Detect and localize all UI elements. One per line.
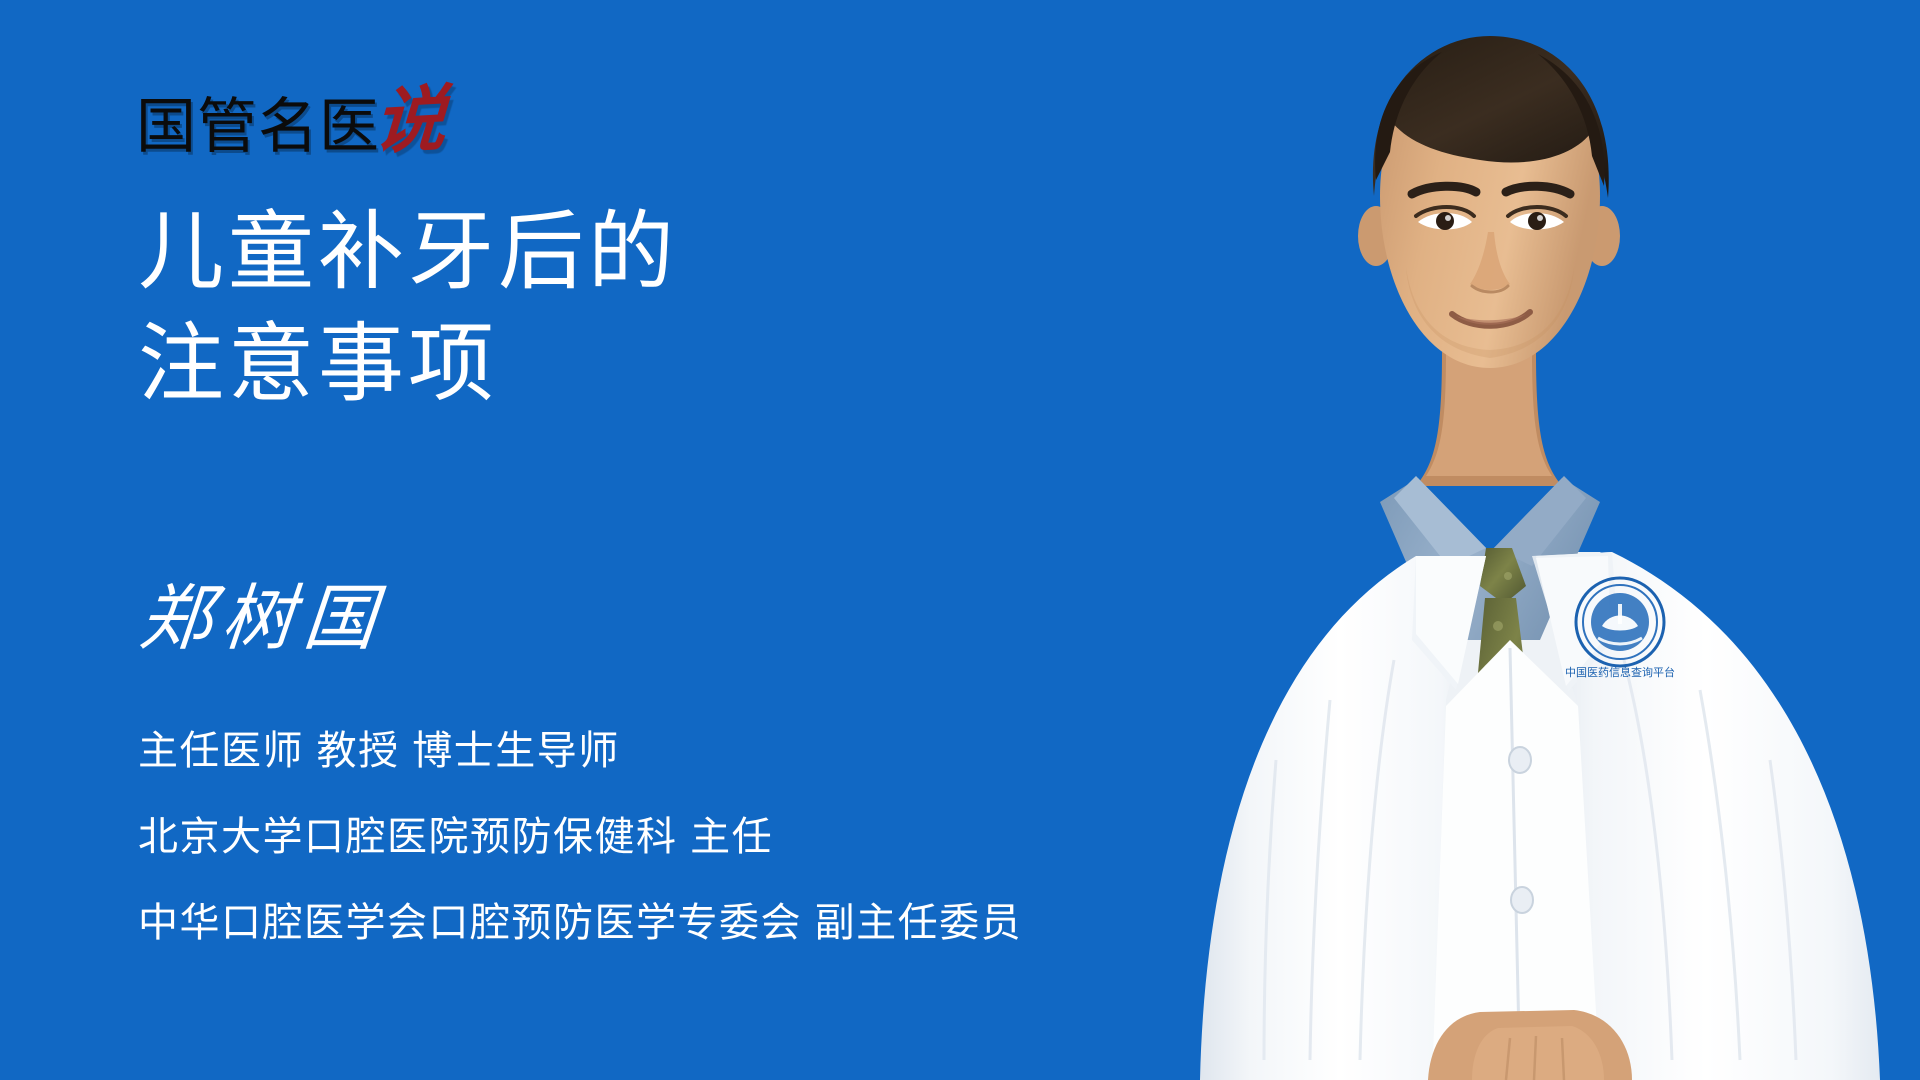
page-title-line-2: 注意事项 — [138, 308, 1038, 420]
doctor-portrait-photo: 中国医药信息查询平台 — [1180, 0, 1920, 1080]
left-content-column: 国管名医 说 儿童补牙后的 注意事项 郑树国 主任医师 教授 博士生导师 北京大… — [0, 0, 1250, 1080]
brand-logo-main-text: 国管名医 — [136, 96, 380, 158]
page-title: 儿童补牙后的 注意事项 — [138, 196, 1038, 420]
credential-line: 北京大学口腔医院预防保健科 主任 — [138, 794, 1198, 880]
hospital-badge-emblem: 中国医药信息查询平台 — [1558, 568, 1682, 692]
badge-caption: 中国医药信息查询平台 — [1565, 665, 1675, 679]
credential-line: 中华口腔医学会口腔预防医学专委会 副主任委员 — [138, 880, 1198, 966]
doctor-name: 郑树国 — [136, 576, 390, 662]
credential-line: 主任医师 教授 博士生导师 — [138, 708, 1198, 794]
brand-logo: 国管名医 说 — [136, 92, 444, 170]
doctor-credentials: 主任医师 教授 博士生导师 北京大学口腔医院预防保健科 主任 中华口腔医学会口腔… — [138, 708, 1198, 966]
page-title-line-1: 儿童补牙后的 — [138, 196, 1038, 308]
video-thumbnail-slide: 国管名医 说 儿童补牙后的 注意事项 郑树国 主任医师 教授 博士生导师 北京大… — [0, 0, 1920, 1080]
brand-logo-accent-text: 说 — [372, 88, 448, 154]
